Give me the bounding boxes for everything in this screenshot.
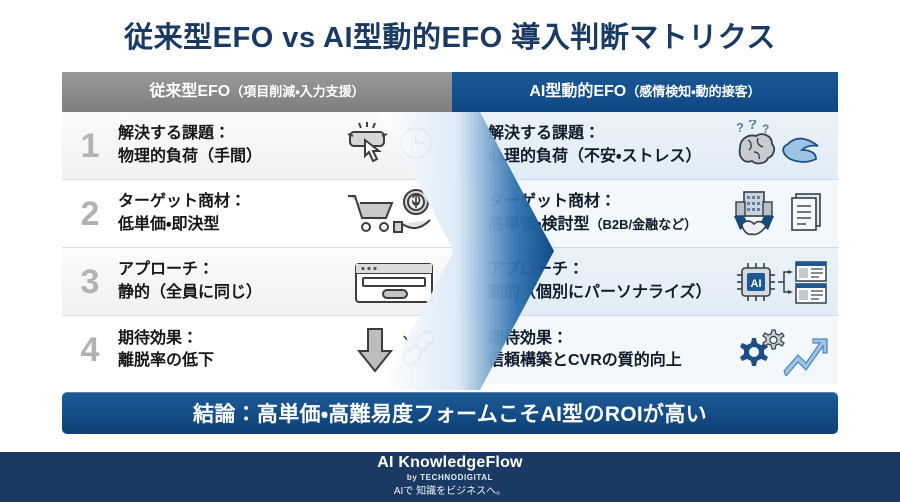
row-text: 期待効果： 信頼構築とCVRの質的向上 [452,328,730,372]
table-row: ターゲット商材： 高単価・検討型（B2B/金融など） [452,180,838,248]
brain-question-icon: ? ? ? [736,120,774,163]
clock-icon [401,128,431,158]
column-traditional-efo: 従来型EFO（項目削減・入力支援） 1 解決する課題： 物理的負荷（手間） [62,72,452,390]
row-text: 解決する課題： 物理的負荷（手間） [108,123,344,167]
building-handshake-icon [734,192,774,235]
coin-hand-icon [394,190,430,232]
row-line-2-main: 高単価・検討型 [488,216,589,233]
row-line-2: 物理的負荷（手間） [118,146,344,168]
page-title: 従来型EFO vs AI型動的EFO 導入判断マトリクス [0,14,900,56]
row-text: 解決する課題： 心理的負荷（不安・ストレス） [452,123,730,167]
table-row: 1 解決する課題： 物理的負荷（手間） [62,112,452,180]
row-line-1: ターゲット商材： [118,191,344,213]
row-line-2: 静的（全員に同じ） [118,282,344,304]
wave-icon [783,138,818,161]
footer-branding: AI KnowledgeFlow by TECHNODIGITAL AIで 知識… [0,452,900,502]
row-line-1: アプローチ： [118,259,344,281]
row-number: 1 [62,129,108,163]
row-icons [344,253,452,311]
brand-name: AI KnowledgeFlow [377,454,522,472]
shopping-cart-icon [348,196,392,231]
table-row: 4 期待効果： 離脱率の低下 [62,316,452,384]
row-icons: AI [730,253,838,311]
row-line-2: 離脱率の低下 [118,350,344,372]
row-icons [344,185,452,243]
row-icons [730,185,838,243]
infographic-page: 従来型EFO vs AI型動的EFO 導入判断マトリクス 従来型EFO（項目削減… [0,0,900,502]
row-line-1: アプローチ： [488,259,730,281]
row-icons: ? ? ? [730,117,838,175]
table-row: アプローチ： 動的（個別にパーソナライズ） AI [452,248,838,316]
table-row: 2 ターゲット商材： 低単価・即決型 [62,180,452,248]
row-line-2: 動的（個別にパーソナライズ） [488,282,730,304]
static-form-window-icon [348,258,440,306]
down-arrow-icon [359,329,391,371]
rows-traditional: 1 解決する課題： 物理的負荷（手間） [62,112,452,384]
row-line-1: 期待効果： [488,328,730,350]
row-text: アプローチ： 静的（全員に同じ） [108,259,344,303]
personalized-screens-icon [778,262,826,303]
row-icons [730,321,838,379]
row-line-1: 解決する課題： [118,123,344,145]
row-text: ターゲット商材： 高単価・検討型（B2B/金融など） [452,191,730,235]
rows-ai: 解決する課題： 心理的負荷（不安・ストレス） ? ? ? [452,112,838,384]
row-line-2-note: （B2B/金融など） [589,217,697,232]
svg-text:?: ? [736,120,744,135]
header-paren-label: （項目削減・入力支援） [230,84,364,99]
row-line-2: 低単価・即決型 [118,214,344,236]
header-main-label: AI型動的EFO [529,83,626,100]
table-row: 解決する課題： 心理的負荷（不安・ストレス） ? ? ? [452,112,838,180]
row-number: 3 [62,265,108,299]
table-row: 期待効果： 信頼構築とCVRの質的向上 [452,316,838,384]
ai-chip-icon: AI [737,263,775,301]
broken-chain-icon [399,329,436,370]
row-text: ターゲット商材： 低単価・即決型 [108,191,344,235]
brand-tagline: AIで 知識をビジネスへ。 [394,484,506,500]
row-line-1: 解決する課題： [488,123,730,145]
row-line-2: 高単価・検討型（B2B/金融など） [488,214,730,236]
column-header-ai: AI型動的EFO（感情検知・動的接客） [452,72,838,112]
column-header-traditional: 従来型EFO（項目削減・入力支援） [62,72,452,112]
comparison-matrix: 従来型EFO（項目削減・入力支援） 1 解決する課題： 物理的負荷（手間） [62,72,838,390]
row-text: アプローチ： 動的（個別にパーソナライズ） [452,259,730,303]
brand-byline: by TECHNODIGITAL [407,472,493,484]
row-text: 期待効果： 離脱率の低下 [108,328,344,372]
growth-arrow-icon [784,339,827,376]
header-paren-label: （感情検知・動的接客） [626,84,760,99]
header-main-label: 従来型EFO [149,83,230,100]
row-line-1: 期待効果： [118,328,344,350]
documents-icon [792,194,820,230]
gears-icon [740,330,784,366]
row-icons [344,117,452,175]
row-number: 4 [62,333,108,367]
row-number: 2 [62,197,108,231]
svg-text:AI: AI [751,278,762,290]
table-row: 3 アプローチ： 静的（全員に同じ） [62,248,452,316]
cursor-click-icon [348,122,387,161]
row-icons [344,321,452,379]
column-ai-efo: AI型動的EFO（感情検知・動的接客） 解決する課題： 心理的負荷（不安・ストレ… [452,72,838,390]
row-line-1: ターゲット商材： [488,191,730,213]
row-line-2: 信頼構築とCVRの質的向上 [488,350,730,372]
svg-text:?: ? [748,120,757,133]
row-line-2: 心理的負荷（不安・ストレス） [488,146,730,168]
conclusion-banner: 結論：高単価・高難易度フォームこそAI型のROIが高い [62,392,838,434]
